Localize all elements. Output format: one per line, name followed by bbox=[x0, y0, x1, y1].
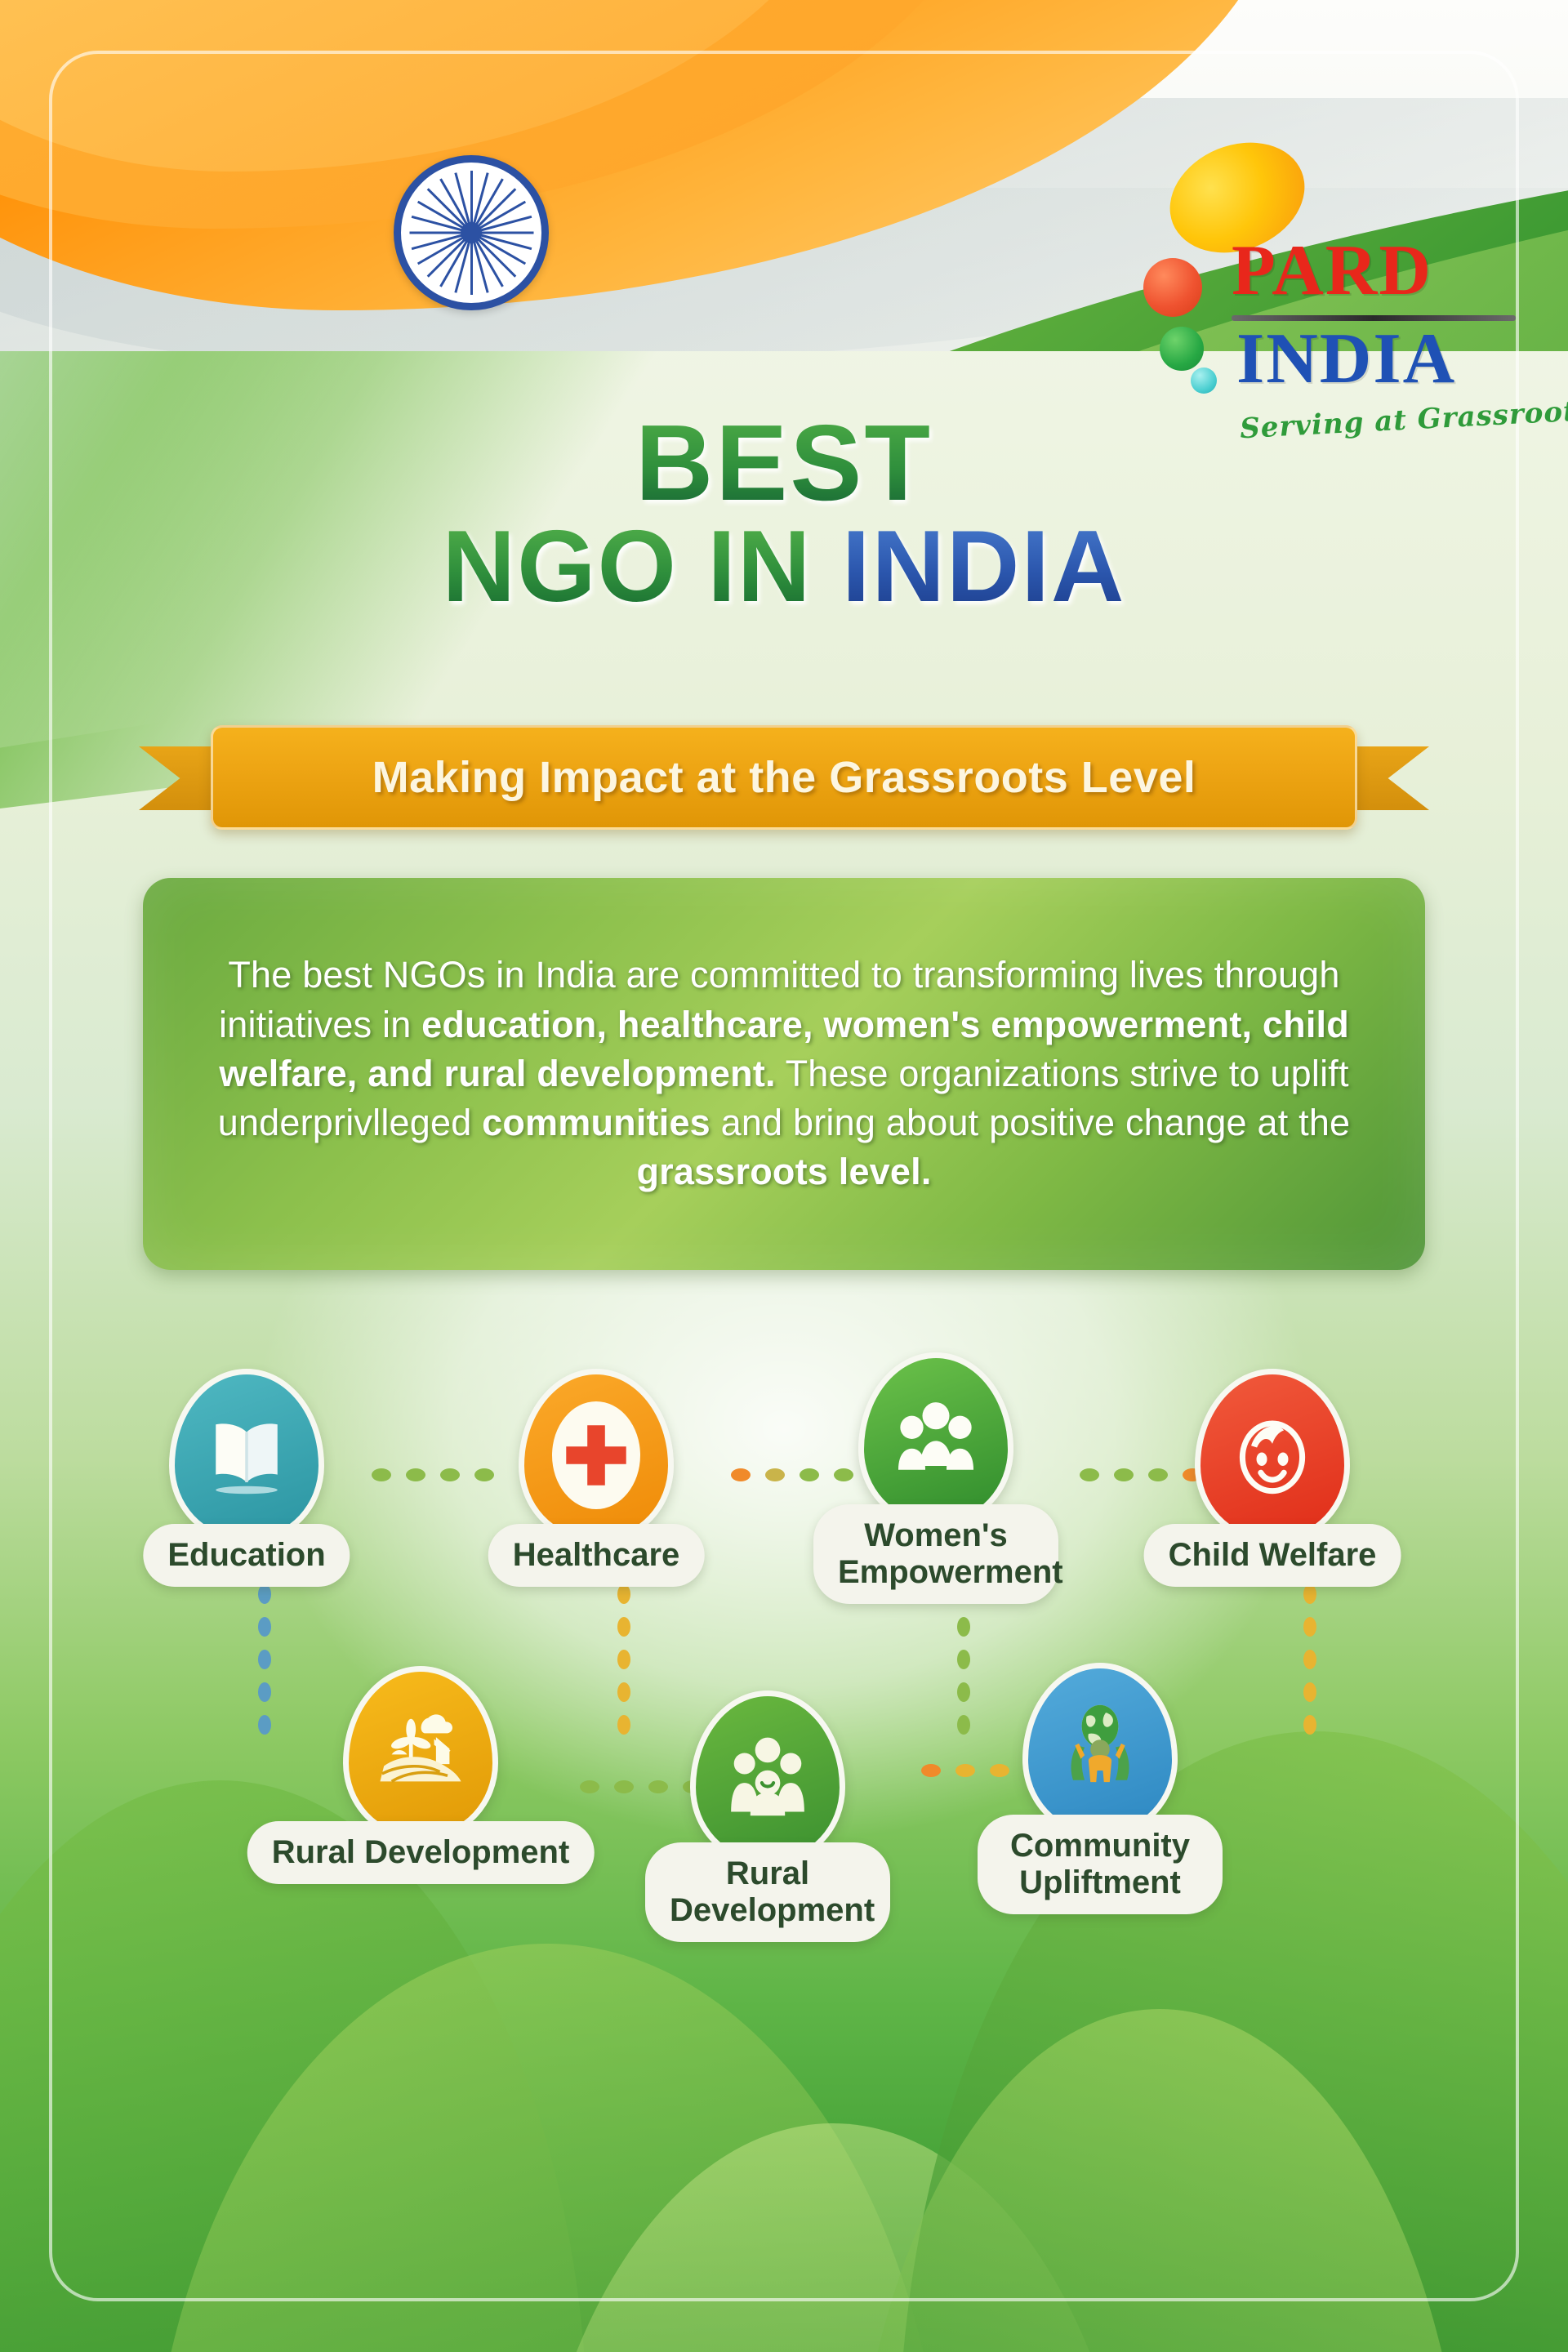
focus-area-label[interactable]: Community Upliftment bbox=[978, 1815, 1223, 1914]
subtitle-ribbon: Making Impact at the Grassroots Level bbox=[139, 725, 1429, 831]
healthcare-inner-oval bbox=[552, 1401, 640, 1509]
open-book-icon bbox=[198, 1407, 295, 1503]
child-face-icon bbox=[1224, 1407, 1321, 1503]
education-bubble[interactable] bbox=[169, 1369, 324, 1542]
red-cross-icon bbox=[552, 1407, 640, 1503]
ribbon-body: Making Impact at the Grassroots Level bbox=[211, 725, 1357, 830]
healthcare-bubble[interactable] bbox=[519, 1369, 674, 1542]
logo-name-top: PARD bbox=[1232, 235, 1432, 307]
focus-area-child-welfare[interactable]: Child Welfare bbox=[1195, 1369, 1350, 1542]
group-people-icon bbox=[888, 1391, 984, 1487]
connector-dots bbox=[1080, 1468, 1202, 1481]
connector-dots bbox=[372, 1468, 494, 1481]
logo-red-dot-icon bbox=[1143, 258, 1202, 317]
focus-area-label[interactable]: Education bbox=[143, 1524, 350, 1587]
focus-area-label[interactable]: Women's Empowerment bbox=[813, 1504, 1058, 1604]
family-group-icon bbox=[719, 1729, 816, 1825]
logo-green-dot-icon bbox=[1160, 327, 1204, 371]
title-line-2-blue: INDIA bbox=[842, 510, 1126, 623]
intro-bold-run: communities bbox=[482, 1102, 710, 1143]
focus-area-label[interactable]: Healthcare bbox=[488, 1524, 705, 1587]
intro-bold-run: grassroots level. bbox=[636, 1151, 931, 1192]
focus-areas-section: Education Healthcare bbox=[0, 1339, 1568, 2009]
connector-dots-vertical bbox=[258, 1584, 271, 1735]
focus-area-rural-development-family[interactable]: Rural Development bbox=[690, 1690, 845, 1864]
focus-area-healthcare[interactable]: Healthcare bbox=[519, 1369, 674, 1542]
title-line-2: NGO IN INDIA bbox=[0, 514, 1568, 621]
focus-area-womens-empowerment[interactable]: Women's Empowerment bbox=[858, 1352, 1013, 1526]
connector-dots-vertical bbox=[1303, 1584, 1316, 1735]
farm-windmill-icon bbox=[372, 1704, 469, 1801]
logo-cyan-dot-icon bbox=[1191, 367, 1217, 394]
focus-area-education[interactable]: Education bbox=[169, 1369, 324, 1542]
focus-area-rural-development-farm[interactable]: Rural Development bbox=[343, 1666, 498, 1839]
connector-dots-vertical bbox=[957, 1584, 970, 1735]
chakra-hub bbox=[461, 222, 482, 243]
intro-text-run: and bring about positive change at the bbox=[710, 1102, 1350, 1143]
focus-area-label[interactable]: Rural Development bbox=[645, 1842, 890, 1942]
title-line-2-green: NGO IN bbox=[443, 510, 842, 623]
focus-area-community-upliftment[interactable]: Community Upliftment bbox=[1022, 1663, 1178, 1836]
focus-area-label[interactable]: Child Welfare bbox=[1144, 1524, 1401, 1587]
connector-dots bbox=[580, 1780, 702, 1793]
globe-hands-icon bbox=[1052, 1701, 1148, 1797]
child-welfare-bubble[interactable] bbox=[1195, 1369, 1350, 1542]
community-upliftment-bubble[interactable] bbox=[1022, 1663, 1178, 1836]
intro-paragraph-box: The best NGOs in India are committed to … bbox=[143, 878, 1425, 1270]
rural-development-bubble[interactable] bbox=[343, 1666, 498, 1839]
intro-paragraph-text: The best NGOs in India are committed to … bbox=[180, 951, 1388, 1196]
title-line-1: BEST bbox=[0, 408, 1568, 519]
rural-development-family-bubble[interactable] bbox=[690, 1690, 845, 1864]
connector-dots-vertical bbox=[617, 1584, 630, 1735]
ribbon-label: Making Impact at the Grassroots Level bbox=[372, 752, 1196, 803]
page-title: BEST NGO IN INDIA bbox=[0, 408, 1568, 621]
pard-india-logo[interactable]: PARD INDIA Serving at Grassroots bbox=[1143, 145, 1519, 439]
womens-empowerment-bubble[interactable] bbox=[858, 1352, 1013, 1526]
poster-root: PARD INDIA Serving at Grassroots BEST NG… bbox=[0, 0, 1568, 2352]
focus-area-label[interactable]: Rural Development bbox=[247, 1821, 595, 1884]
connector-dots bbox=[731, 1468, 853, 1481]
logo-name-bottom: INDIA bbox=[1236, 323, 1456, 395]
ashoka-chakra-icon bbox=[394, 155, 549, 310]
